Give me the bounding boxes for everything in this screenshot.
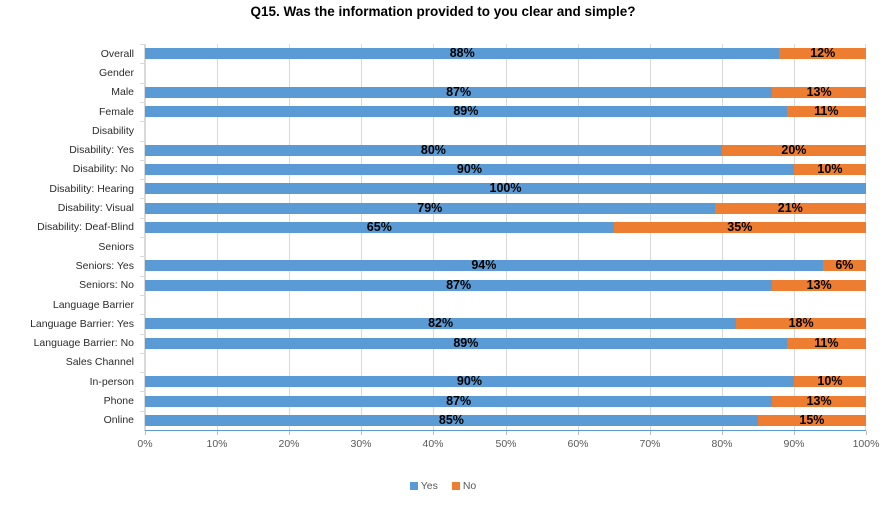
category-label: Male (0, 87, 138, 98)
bar-row: 80%20% (145, 145, 866, 156)
legend-item-yes[interactable]: Yes (410, 480, 438, 492)
axis-tick-mark (289, 431, 290, 435)
category-axis-tick (140, 314, 145, 315)
category-axis-tick (140, 411, 145, 412)
bar-segment-no[interactable] (779, 48, 866, 59)
axis-tick-label: 10% (192, 438, 242, 450)
bar-segment-yes[interactable] (145, 87, 772, 98)
category-axis-tick (140, 102, 145, 103)
category-label: Seniors (0, 242, 138, 253)
bar-segment-yes[interactable] (145, 164, 794, 175)
category-axis-tick (140, 237, 145, 238)
bar-segment-no[interactable] (614, 222, 866, 233)
bar-segment-no[interactable] (787, 338, 866, 349)
axis-tick-label: 80% (697, 438, 747, 450)
axis-tick-label: 60% (553, 438, 603, 450)
gridline (217, 44, 218, 430)
axis-tick-label: 70% (625, 438, 675, 450)
category-label: Disability: Deaf-Blind (0, 222, 138, 233)
category-axis-tick (140, 295, 145, 296)
bar-segment-no[interactable] (772, 280, 866, 291)
bar-row: 100% (145, 183, 866, 194)
bar-segment-no[interactable] (758, 415, 866, 426)
gridline (722, 44, 723, 430)
category-label: Language Barrier: Yes (0, 319, 138, 330)
chart-title: Q15. Was the information provided to you… (0, 4, 886, 19)
plot-left-border (145, 44, 146, 430)
gridline (361, 44, 362, 430)
category-label: Overall (0, 49, 138, 60)
category-axis-tick (140, 160, 145, 161)
axis-tick-mark (217, 431, 218, 435)
legend-label-no: No (463, 480, 476, 492)
plot-right-border (865, 44, 866, 430)
category-label: Disability: Hearing (0, 184, 138, 195)
bar-segment-yes[interactable] (145, 318, 736, 329)
bar-segment-yes[interactable] (145, 260, 823, 271)
category-label: Disability: Yes (0, 145, 138, 156)
bar-row: 65%35% (145, 222, 866, 233)
bar-row: 88%12% (145, 48, 866, 59)
bar-row: 79%21% (145, 203, 866, 214)
bar-row: 94%6% (145, 260, 866, 271)
legend-swatch-yes-icon (410, 482, 418, 490)
category-label: Female (0, 107, 138, 118)
axis-tick-mark (578, 431, 579, 435)
category-axis-tick (140, 372, 145, 373)
category-axis-tick (140, 44, 145, 45)
axis-tick-label: 90% (769, 438, 819, 450)
bar-row: 90%10% (145, 164, 866, 175)
bar-segment-no[interactable] (787, 106, 866, 117)
gridline (506, 44, 507, 430)
axis-tick-label: 30% (336, 438, 386, 450)
category-axis-tick (140, 141, 145, 142)
category-label: Language Barrier (0, 300, 138, 311)
axis-tick-mark (722, 431, 723, 435)
bar-segment-no[interactable] (722, 145, 866, 156)
axis-tick-mark (794, 431, 795, 435)
gridline (578, 44, 579, 430)
bar-row: 87%13% (145, 396, 866, 407)
bar-segment-no[interactable] (772, 396, 866, 407)
category-label: Disability: No (0, 164, 138, 175)
bar-segment-yes[interactable] (145, 145, 722, 156)
bar-segment-yes[interactable] (145, 280, 772, 291)
category-label: Language Barrier: No (0, 338, 138, 349)
chart-container: Q15. Was the information provided to you… (0, 0, 886, 510)
bar-segment-yes[interactable] (145, 48, 779, 59)
category-axis-labels: OverallGenderMaleFemaleDisabilityDisabil… (0, 44, 138, 430)
bar-row: 89%11% (145, 338, 866, 349)
bar-segment-yes[interactable] (145, 396, 772, 407)
bar-row: 87%13% (145, 280, 866, 291)
axis-tick-label: 20% (264, 438, 314, 450)
axis-tick-mark (433, 431, 434, 435)
axis-tick-label: 100% (841, 438, 886, 450)
axis-tick-mark (866, 431, 867, 435)
category-axis-tick (140, 256, 145, 257)
category-axis-tick (140, 121, 145, 122)
category-label: In-person (0, 377, 138, 388)
category-axis-tick (140, 63, 145, 64)
category-label: Seniors: No (0, 280, 138, 291)
legend-item-no[interactable]: No (452, 480, 476, 492)
category-label: Sales Channel (0, 357, 138, 368)
category-label: Gender (0, 68, 138, 79)
category-axis-tick (140, 218, 145, 219)
category-axis-tick (140, 353, 145, 354)
bar-segment-yes[interactable] (145, 338, 787, 349)
bar-segment-yes[interactable] (145, 222, 614, 233)
bar-row: 90%10% (145, 376, 866, 387)
gridline (433, 44, 434, 430)
bar-segment-yes[interactable] (145, 203, 715, 214)
axis-tick-label: 40% (408, 438, 458, 450)
bar-segment-no[interactable] (736, 318, 866, 329)
bar-row: 85%15% (145, 415, 866, 426)
legend-swatch-no-icon (452, 482, 460, 490)
bar-segment-no[interactable] (823, 260, 866, 271)
bar-segment-yes[interactable] (145, 415, 758, 426)
category-label: Disability: Visual (0, 203, 138, 214)
category-axis-tick (140, 198, 145, 199)
legend-label-yes: Yes (421, 480, 438, 492)
chart-legend: Yes No (0, 478, 886, 494)
bar-segment-yes[interactable] (145, 183, 866, 194)
bar-segment-yes[interactable] (145, 106, 787, 117)
category-axis-tick (140, 179, 145, 180)
bar-segment-no[interactable] (715, 203, 866, 214)
category-axis-tick (140, 391, 145, 392)
bar-row: 87%13% (145, 87, 866, 98)
bar-segment-no[interactable] (772, 87, 866, 98)
axis-tick-mark (361, 431, 362, 435)
bar-row: 82%18% (145, 318, 866, 329)
axis-tick-label: 0% (120, 438, 170, 450)
category-label: Online (0, 415, 138, 426)
axis-tick-mark (145, 431, 146, 435)
axis-tick-label: 50% (481, 438, 531, 450)
category-label: Disability (0, 126, 138, 137)
gridline (289, 44, 290, 430)
plot-area: 88%12%87%13%89%11%80%20%90%10%100%79%21%… (145, 44, 866, 430)
bar-segment-no[interactable] (794, 164, 866, 175)
bar-row: 89%11% (145, 106, 866, 117)
category-label: Phone (0, 396, 138, 407)
gridline (650, 44, 651, 430)
axis-tick-mark (506, 431, 507, 435)
category-label: Seniors: Yes (0, 261, 138, 272)
category-axis-tick (140, 276, 145, 277)
axis-tick-mark (650, 431, 651, 435)
bar-segment-yes[interactable] (145, 376, 794, 387)
bar-segment-no[interactable] (794, 376, 866, 387)
category-axis-tick (140, 334, 145, 335)
category-axis-tick (140, 83, 145, 84)
gridline (794, 44, 795, 430)
